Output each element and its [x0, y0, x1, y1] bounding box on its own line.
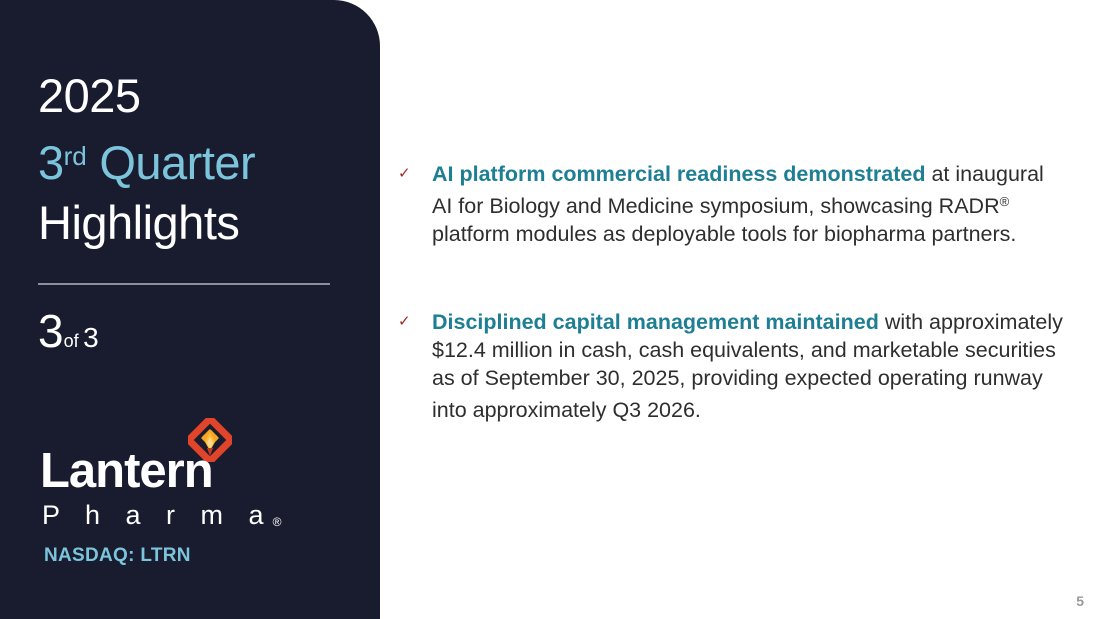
- sidebar-divider: [38, 283, 330, 285]
- bullet-body-part2: platform modules as deployable tools for…: [432, 222, 1016, 246]
- title-quarter-word: Quarter: [99, 136, 255, 189]
- logo-wordmark: Lantern: [40, 444, 213, 498]
- bullet-lead: AI platform commercial readiness demonst…: [432, 162, 925, 186]
- slide-counter: 3of 3: [38, 306, 99, 356]
- check-icon: ✓: [398, 165, 411, 183]
- title-line-year: 2025: [38, 66, 348, 126]
- sidebar-panel: 2025 3rd Quarter Highlights 3of 3: [0, 0, 380, 619]
- title-quarter-number: 3: [38, 136, 64, 189]
- bullet-text: AI platform commercial readiness demonst…: [432, 160, 1068, 248]
- list-item: ✓ AI platform commercial readiness demon…: [398, 160, 1068, 248]
- page-number: 5: [1076, 593, 1084, 609]
- counter-separator: of: [64, 331, 79, 351]
- logo-sub-wordmark: P h a r m a®: [42, 500, 281, 537]
- check-icon: ✓: [398, 313, 411, 331]
- title-quarter-ordinal: rd: [64, 141, 87, 171]
- stock-ticker: NASDAQ: LTRN: [44, 545, 191, 567]
- highlights-list: ✓ AI platform commercial readiness demon…: [398, 160, 1068, 424]
- counter-total: 3: [83, 322, 99, 353]
- bullet-text: Disciplined capital management maintaine…: [432, 308, 1068, 424]
- title-line-quarter: 3rd Quarter: [38, 126, 348, 193]
- title-line-highlights: Highlights: [38, 193, 348, 253]
- logo-sub-text: P h a r m a: [42, 500, 273, 530]
- slide-title: 2025 3rd Quarter Highlights: [38, 66, 348, 253]
- registered-mark-icon: ®: [273, 515, 282, 529]
- counter-current: 3: [38, 305, 64, 357]
- slide-canvas: 2025 3rd Quarter Highlights 3of 3: [0, 0, 1100, 619]
- registered-mark-icon: ®: [1000, 194, 1010, 209]
- list-item: ✓ Disciplined capital management maintai…: [398, 308, 1068, 424]
- bullet-lead: Disciplined capital management maintaine…: [432, 310, 879, 334]
